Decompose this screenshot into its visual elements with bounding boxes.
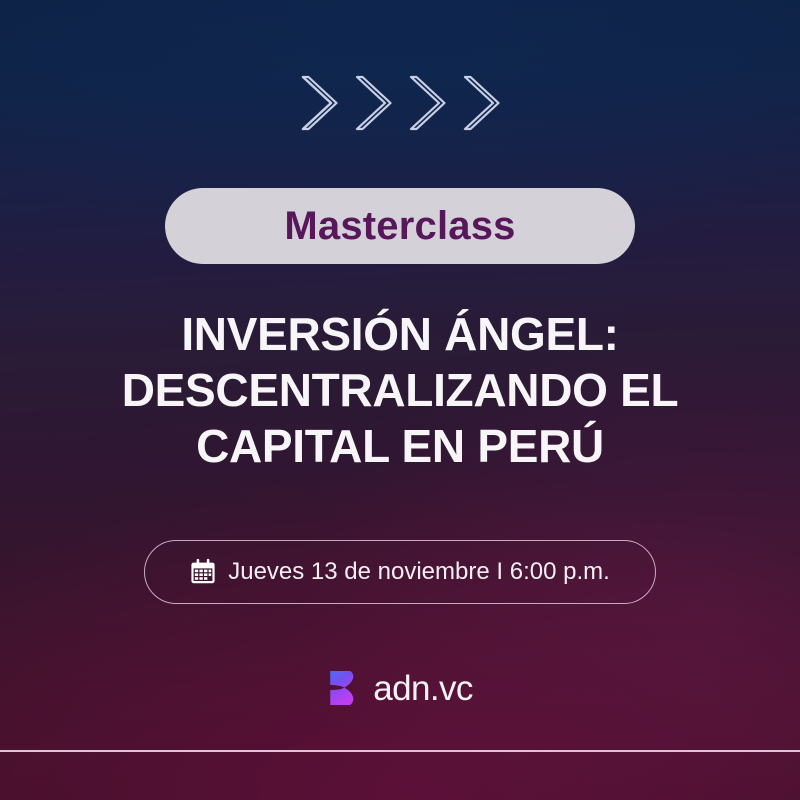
adn-logo-mark-icon <box>327 668 361 708</box>
headline-line-1: INVERSIÓN ÁNGEL: <box>60 306 740 362</box>
footer-divider <box>0 750 800 752</box>
event-datetime-text: Jueves 13 de noviembre I 6:00 p.m. <box>228 560 610 584</box>
chevron-group <box>0 72 800 134</box>
chevron-right-icon-4 <box>459 72 503 134</box>
chevron-right-icon-1 <box>297 72 341 134</box>
brand-wordmark: adn.vc <box>373 671 473 706</box>
page-title: INVERSIÓN ÁNGEL: DESCENTRALIZANDO EL CAP… <box>0 306 800 474</box>
event-datetime-pill: Jueves 13 de noviembre I 6:00 p.m. <box>144 540 656 604</box>
headline-line-2: DESCENTRALIZANDO EL <box>60 362 740 418</box>
calendar-icon <box>190 558 216 585</box>
promo-poster: Masterclass INVERSIÓN ÁNGEL: DESCENTRALI… <box>0 0 800 800</box>
masterclass-badge-label: Masterclass <box>284 206 515 246</box>
chevron-right-icon-2 <box>351 72 395 134</box>
brand-logo: adn.vc <box>327 668 473 708</box>
masterclass-badge: Masterclass <box>165 188 635 264</box>
headline-line-3: CAPITAL EN PERÚ <box>60 418 740 474</box>
chevron-right-icon-3 <box>405 72 449 134</box>
